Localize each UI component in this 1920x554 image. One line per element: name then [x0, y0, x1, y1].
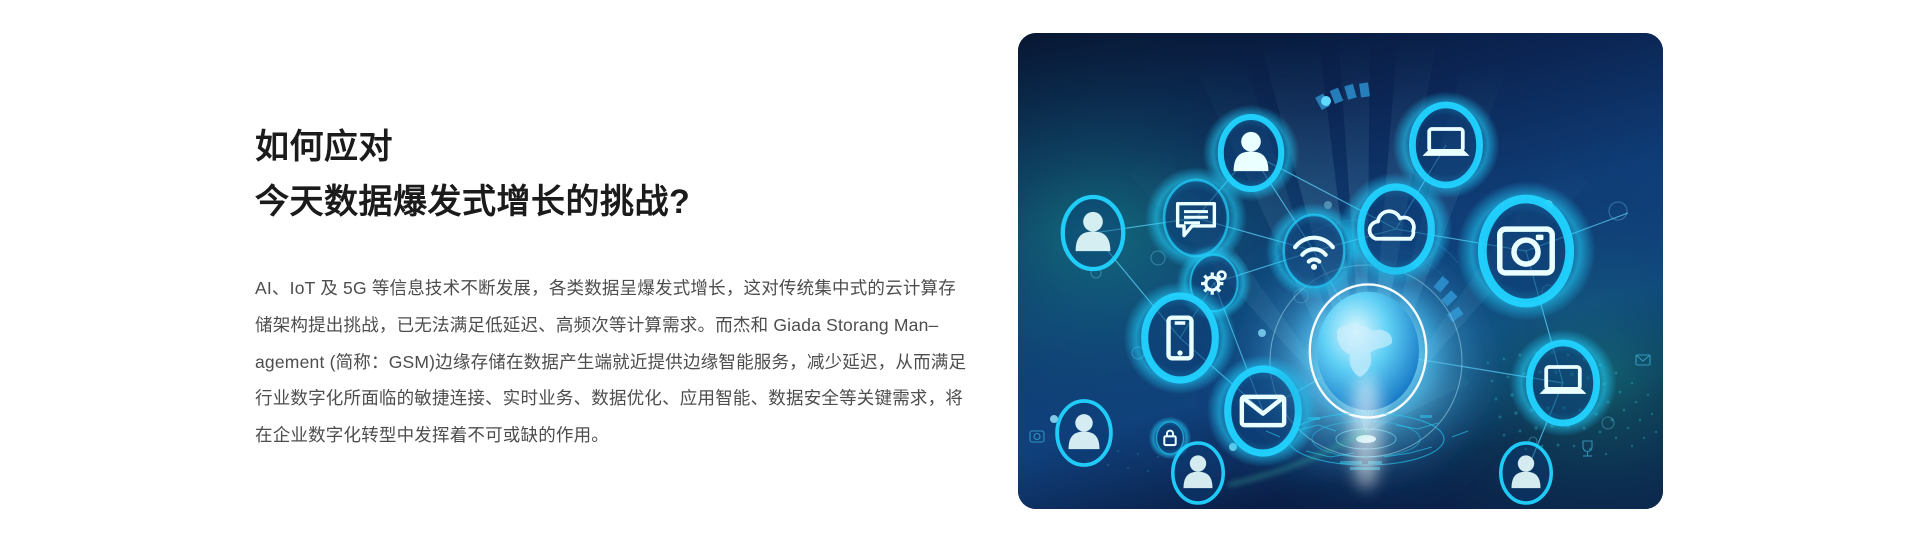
body-line-2: 储架构提出挑战，已无法满足低延迟、高频次等计算需求。而杰和 Giada Stor… [255, 307, 975, 344]
marketing-section: 如何应对 今天数据爆发式增长的挑战? AI、IoT 及 5G 等信息技术不断发展… [0, 0, 1920, 554]
network-node-lock [1149, 417, 1192, 460]
body-line-4: 行业数字化所面临的敏捷连接、实时业务、数据优化、应用智能、数据安全等关键需求，将 [255, 380, 975, 417]
network-node-camera [1456, 181, 1595, 320]
page-title: 如何应对 今天数据爆发式增长的挑战? [255, 120, 975, 230]
network-node-user-bottom-right [1501, 443, 1551, 503]
text-column: 如何应对 今天数据爆发式增长的挑战? AI、IoT 及 5G 等信息技术不断发展… [255, 120, 975, 454]
hero-image [1018, 33, 1663, 509]
network-node-laptop-top-right [1392, 91, 1499, 198]
headline-line-2: 今天数据爆发式增长的挑战? [255, 175, 975, 230]
network-concept-illustration [1018, 33, 1663, 509]
body-line-3: agement (简称：GSM)边缘存储在数据产生端就近提供边缘智能服务，减少延… [255, 344, 975, 381]
network-node-laptop-right [1509, 329, 1616, 436]
body-line-1: AI、IoT 及 5G 等信息技术不断发展，各类数据呈爆发式增长，这对传统集中式… [255, 270, 975, 307]
network-node-user-top-left [1063, 197, 1123, 269]
headline-line-1: 如何应对 [255, 120, 975, 175]
body-line-5: 在企业数字化转型中发挥着不可或缺的作用。 [255, 417, 975, 454]
network-node-user-bottom-left [1057, 401, 1111, 465]
accent-dot [1321, 96, 1331, 106]
body-paragraph: AI、IoT 及 5G 等信息技术不断发展，各类数据呈爆发式增长，这对传统集中式… [255, 270, 975, 454]
